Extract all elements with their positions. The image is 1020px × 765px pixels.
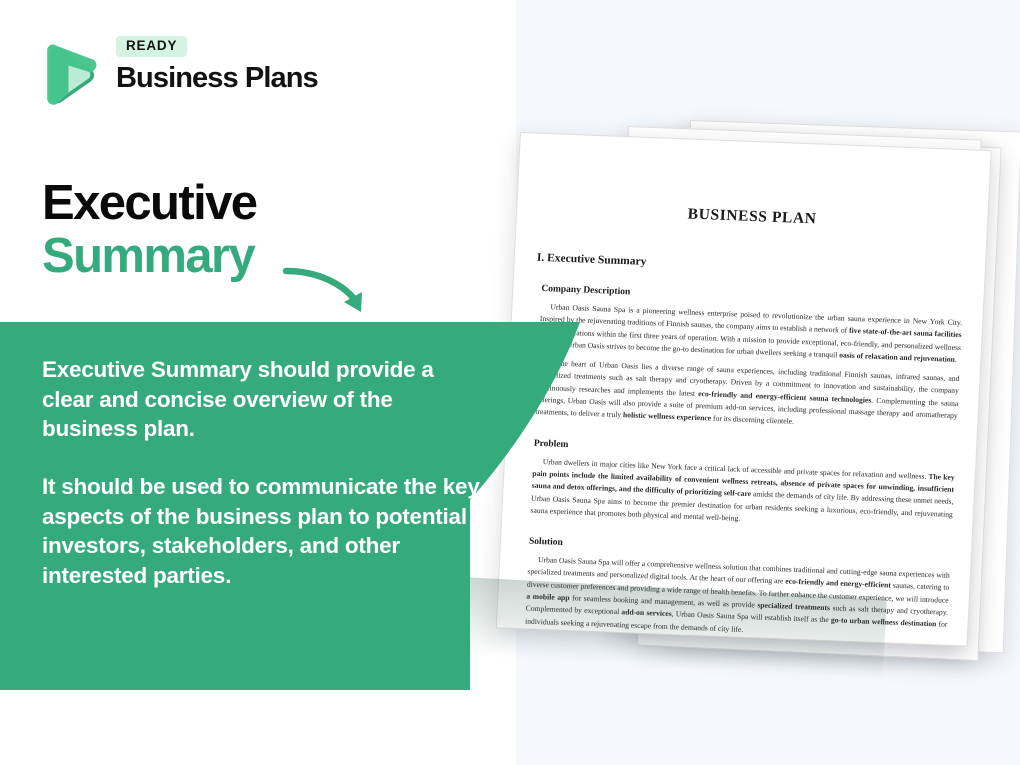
document-title: BUSINESS PLAN [517, 199, 988, 235]
document-sheet-front: BUSINESS PLAN I. Executive Summary Compa… [496, 132, 992, 647]
document-section-heading: I. Executive Summary [537, 252, 985, 281]
document-paragraph: Urban Oasis Sauna Spa will offer a compr… [525, 554, 950, 644]
band-paragraph-2: It should be used to communicate the key… [42, 472, 482, 591]
document-paragraph: At the heart of Urban Oasis lies a diver… [535, 357, 960, 435]
page-title: Executive Summary [42, 178, 472, 283]
page-title-line-1: Executive [42, 178, 472, 230]
document-paragraph: Urban dwellers in major cities like New … [530, 455, 955, 533]
document-page-content: BUSINESS PLAN I. Executive Summary Compa… [497, 133, 991, 645]
curved-arrow-down-right-icon [282, 262, 378, 324]
slide-canvas: na sh by a nts al its for sauna ens and … [0, 0, 1020, 765]
ready-badge: READY [116, 36, 187, 57]
band-paragraph-1: Executive Summary should provide a clear… [42, 355, 482, 444]
brand-name: Business Plans [116, 63, 366, 93]
document-paragraph: Urban Oasis Sauna Spa is a pioneering we… [538, 301, 962, 366]
page-title-line-2: Summary [42, 230, 472, 283]
green-band-copy: Executive Summary should provide a clear… [42, 355, 482, 591]
play-arrow-logo-icon [42, 36, 104, 114]
brand-logo[interactable]: READY Business Plans [42, 36, 372, 116]
brand-logo-text: READY Business Plans [116, 36, 366, 94]
